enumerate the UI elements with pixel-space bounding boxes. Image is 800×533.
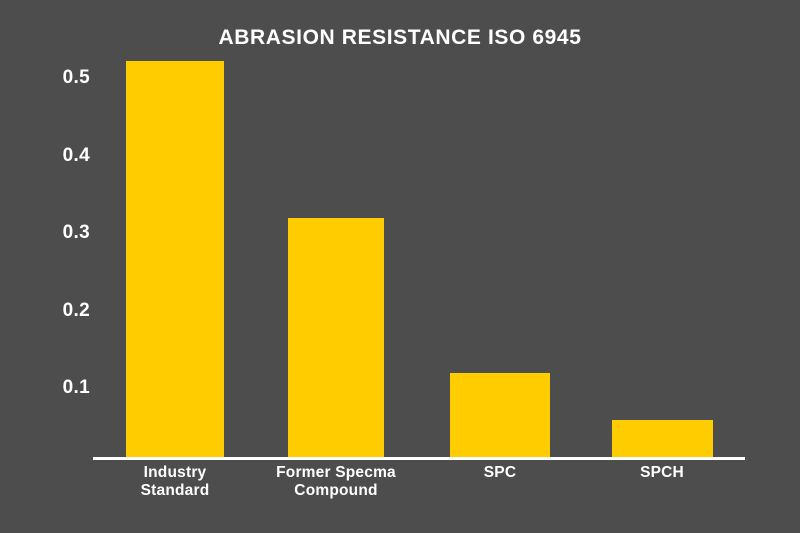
x-axis-category-line: Standard (105, 482, 245, 500)
x-axis-category-label: SPC (430, 464, 570, 482)
y-axis-tick-label: 0.3 (30, 222, 90, 244)
x-axis-category-line: Industry (105, 464, 245, 482)
bar (288, 218, 384, 457)
y-axis-tick-label: 0.1 (30, 377, 90, 399)
x-axis-category-line: SPC (430, 464, 570, 482)
y-axis-tick-label: 0.4 (30, 145, 90, 167)
y-axis-tick-label: 0.5 (30, 67, 90, 89)
bar (450, 373, 550, 457)
y-axis-tick-label: 0.2 (30, 300, 90, 322)
x-axis-category-label: Industry Standard (105, 464, 245, 500)
chart-container: ABRASION RESISTANCE ISO 6945 0.5 0.4 0.3… (0, 0, 800, 533)
plot-area: 0.5 0.4 0.3 0.2 0.1 Industry Standard Fo… (0, 0, 800, 533)
bar (126, 61, 224, 457)
x-axis-category-label: Former Specma Compound (256, 464, 416, 500)
x-axis-category-line: Compound (256, 482, 416, 500)
x-axis-category-line: Former Specma (256, 464, 416, 482)
bar (612, 420, 713, 457)
x-axis-category-line: SPCH (592, 464, 732, 482)
x-axis-line (93, 457, 745, 460)
x-axis-category-label: SPCH (592, 464, 732, 482)
